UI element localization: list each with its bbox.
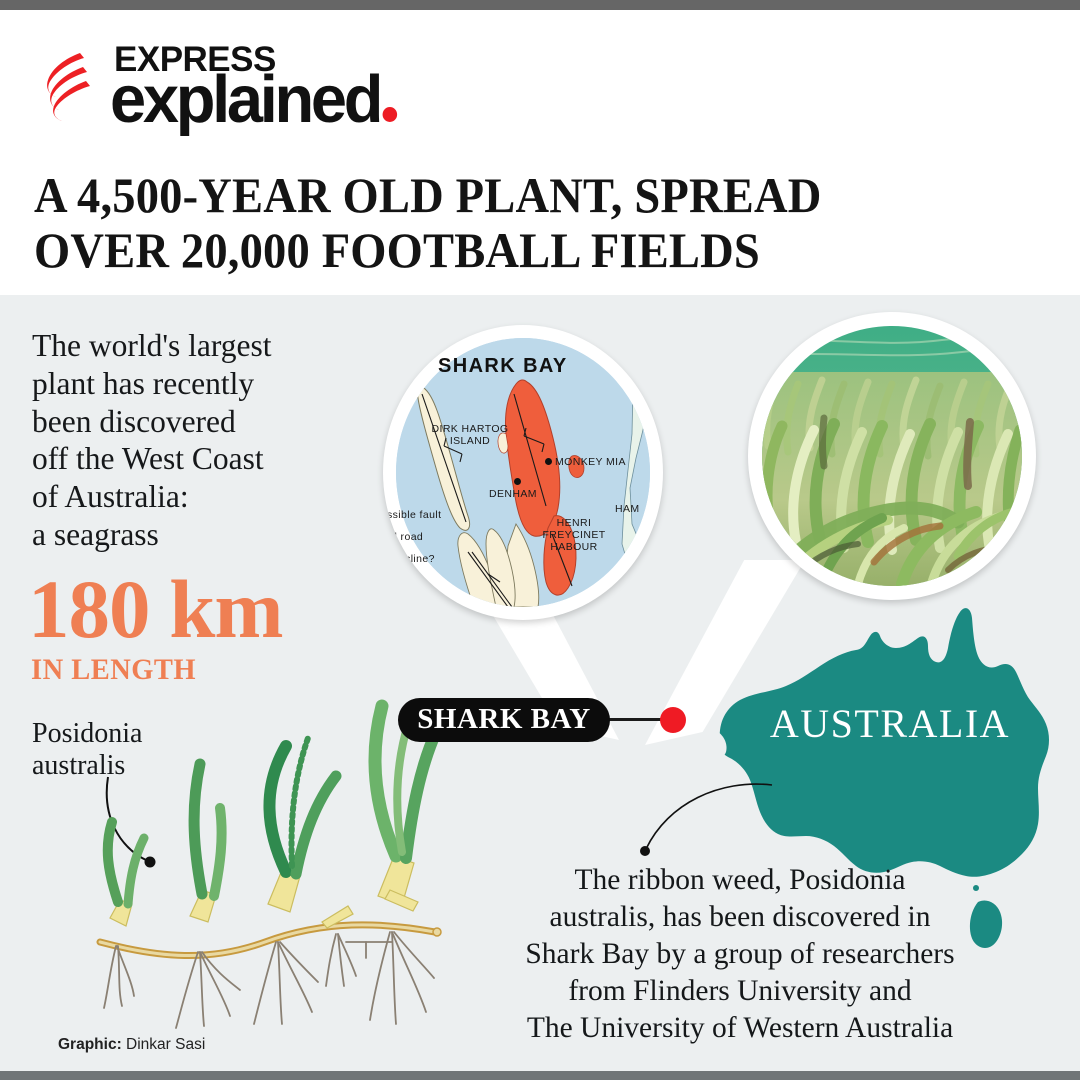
map-label-denham: DENHAM [489,488,551,500]
summary-line-4: from Flinders University and [466,973,1014,1010]
graphic-credit: Graphic: Dinkar Sasi [58,1036,205,1054]
photo-callout-ring [748,312,1036,600]
summary-line-3: Shark Bay by a group of researchers [466,936,1014,973]
summary-line-1: The ribbon weed, Posidonia [466,862,1014,899]
map-label-monkey-mia: MONKEY MIA [555,456,635,468]
headline-line-1: A 4,500-YEAR OLD PLANT, SPREAD [34,168,973,223]
map-label-ham: HAM [615,503,661,515]
shark-bay-map-svg [396,338,650,607]
map-title: SHARK BAY [438,355,568,378]
summary-line-2: australis, has been discovered in [466,899,1014,936]
map-callout-ring: SHARK BAY DIRK HARTOGISLAND MONKEY MIA D… [383,325,663,620]
express-flame-logo-icon [36,50,96,122]
summary-paragraph: The ribbon weed, Posidonia australis, ha… [466,862,1014,1046]
map-label-dirk-hartog: DIRK HARTOGISLAND [425,423,515,447]
lead-line-1: The world's largest [32,327,362,365]
australia-label: AUSTRALIA [760,700,1020,747]
shark-bay-connector-line [608,718,664,721]
stat-caption: IN LENGTH [31,655,196,685]
seagrass-meadow-photo [762,326,1022,586]
header-band: EXPRESS explained A 4,500-YEAR OLD PLANT… [0,10,1080,295]
lead-line-2: plant has recently [32,365,362,403]
lead-line-6: a seagrass [32,516,362,554]
map-dot-monkey-mia [545,458,552,465]
map-label-henri-freycinet: HENRIFREYCINETHABOUR [533,517,615,553]
credit-name: Dinkar Sasi [126,1036,205,1053]
map-callout-image [396,338,650,607]
headline-line-2: OVER 20,000 FOOTBALL FIELDS [34,223,973,278]
shark-bay-pill-label: SHARK BAY [398,703,610,736]
photo-callout-image [762,326,1022,586]
lead-line-4: off the West Coast [32,440,362,478]
shark-bay-location-dot-icon[interactable] [660,707,686,733]
bottom-rule [0,1071,1080,1080]
map-dot-denham [514,478,521,485]
page-title: A 4,500-YEAR OLD PLANT, SPREAD OVER 20,0… [34,168,973,278]
map-legend-road: d road [391,531,461,543]
seagrass-photo-callout[interactable] [748,312,1036,600]
lead-paragraph: The world's largest plant has recently b… [32,327,362,554]
logo-explained-word: explained [110,66,398,133]
summary-line-5: The University of Western Australia [466,1010,1014,1047]
stat-value: 180 km [28,570,283,649]
shark-bay-pill[interactable]: SHARK BAY [398,698,610,742]
map-legend-fault: ssible fault [387,509,467,521]
credit-prefix: Graphic: [58,1036,122,1053]
express-explained-logo[interactable]: EXPRESS explained [36,42,456,134]
top-rule [0,0,1080,10]
lead-line-3: been discovered [32,403,362,441]
logo-red-dot-icon [383,107,398,122]
lead-line-5: of Australia: [32,478,362,516]
map-legend-anticline: ticline? [399,553,469,565]
infographic-canvas: EXPRESS explained A 4,500-YEAR OLD PLANT… [0,0,1080,1080]
shark-bay-map-callout[interactable]: SHARK BAY DIRK HARTOGISLAND MONKEY MIA D… [383,325,663,620]
australia-leader-line [600,745,780,875]
